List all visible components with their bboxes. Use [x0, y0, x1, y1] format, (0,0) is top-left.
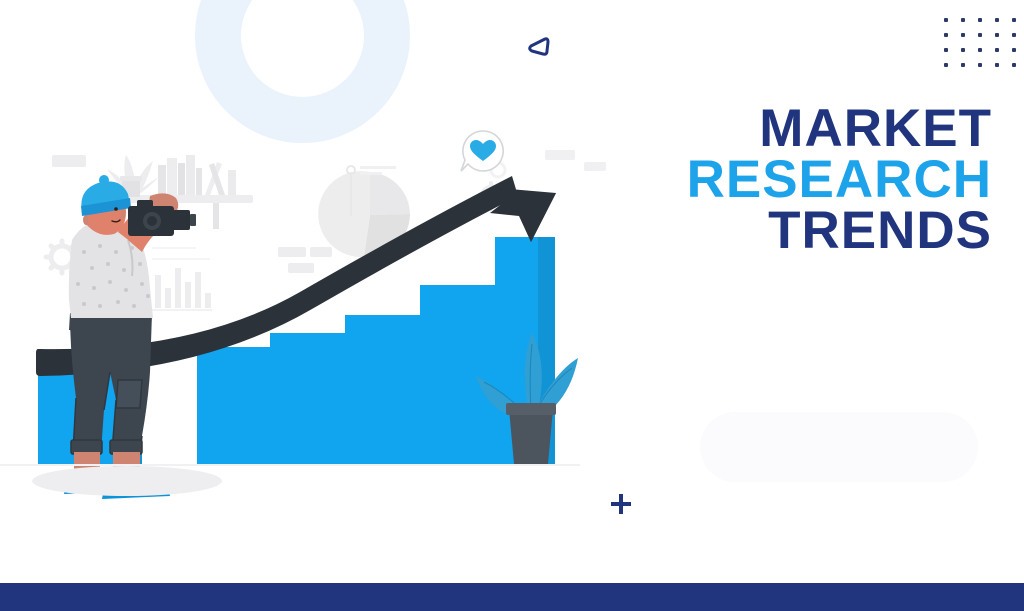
figure-ground-shadow — [32, 466, 222, 496]
faint-mini-bar-chart — [152, 247, 212, 311]
photographer-figure — [64, 175, 196, 499]
plus-mark-icon — [611, 494, 631, 514]
headline-line-research: RESEARCH — [620, 155, 992, 206]
navy-cursor-badge-icon — [524, 33, 550, 59]
shelf-books-icon — [158, 155, 236, 195]
banner-canvas: MARKET RESEARCH TRENDS — [0, 0, 1024, 611]
chat-bubble-heart-icon — [455, 125, 511, 181]
headline-block: MARKET RESEARCH TRENDS — [620, 104, 992, 257]
bottom-accent-band — [0, 583, 1024, 611]
headline-line-trends: TRENDS — [620, 206, 992, 257]
headline-line-market: MARKET — [620, 104, 992, 155]
floor-line — [0, 464, 580, 466]
illustration-layer — [0, 0, 1024, 611]
